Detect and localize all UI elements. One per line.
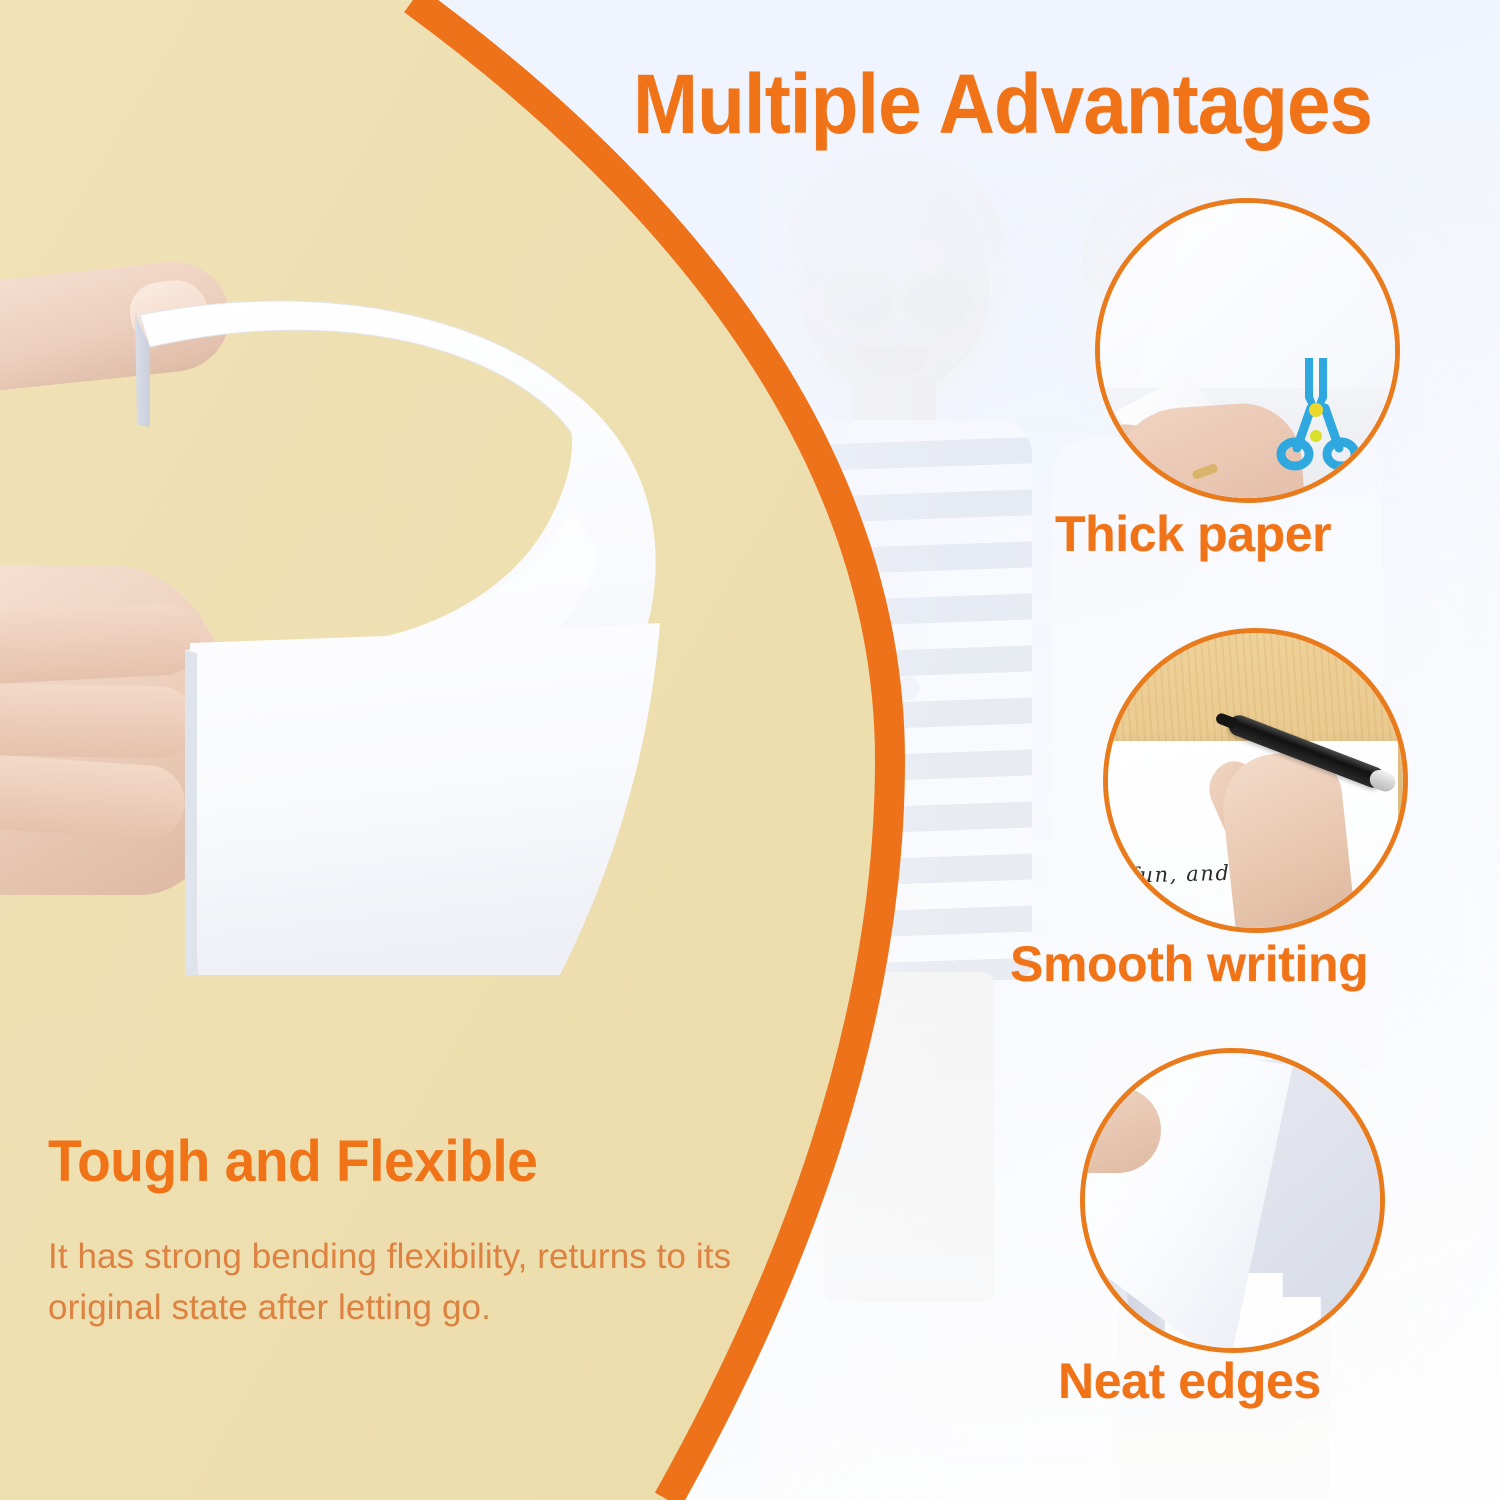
thick-paper-label: Thick paper	[1055, 505, 1331, 563]
paper-left-edge	[185, 650, 197, 975]
hand-bending-paper-photo	[0, 255, 700, 975]
bent-paper-sheet	[0, 255, 700, 975]
neat-edges-label: Neat edges	[1058, 1352, 1321, 1410]
left-heading: Tough and Flexible	[48, 1128, 537, 1195]
smooth-writing-label: Smooth writing	[1010, 935, 1368, 993]
neat-edges-image-circle	[1080, 1048, 1385, 1353]
scissors-icon	[1275, 352, 1361, 472]
infographic-canvas: Multiple Advantages Tough and Flexible I…	[0, 0, 1500, 1500]
paper-bottom-panel	[185, 623, 660, 975]
handwriting-text: I am fun, and	[1103, 861, 1231, 889]
page-title: Multiple Advantages	[633, 56, 1372, 153]
smooth-writing-image-circle: I am fun, and	[1103, 628, 1408, 933]
thick-paper-image-circle	[1095, 198, 1400, 503]
left-body-text: It has strong bending flexibility, retur…	[48, 1232, 778, 1334]
